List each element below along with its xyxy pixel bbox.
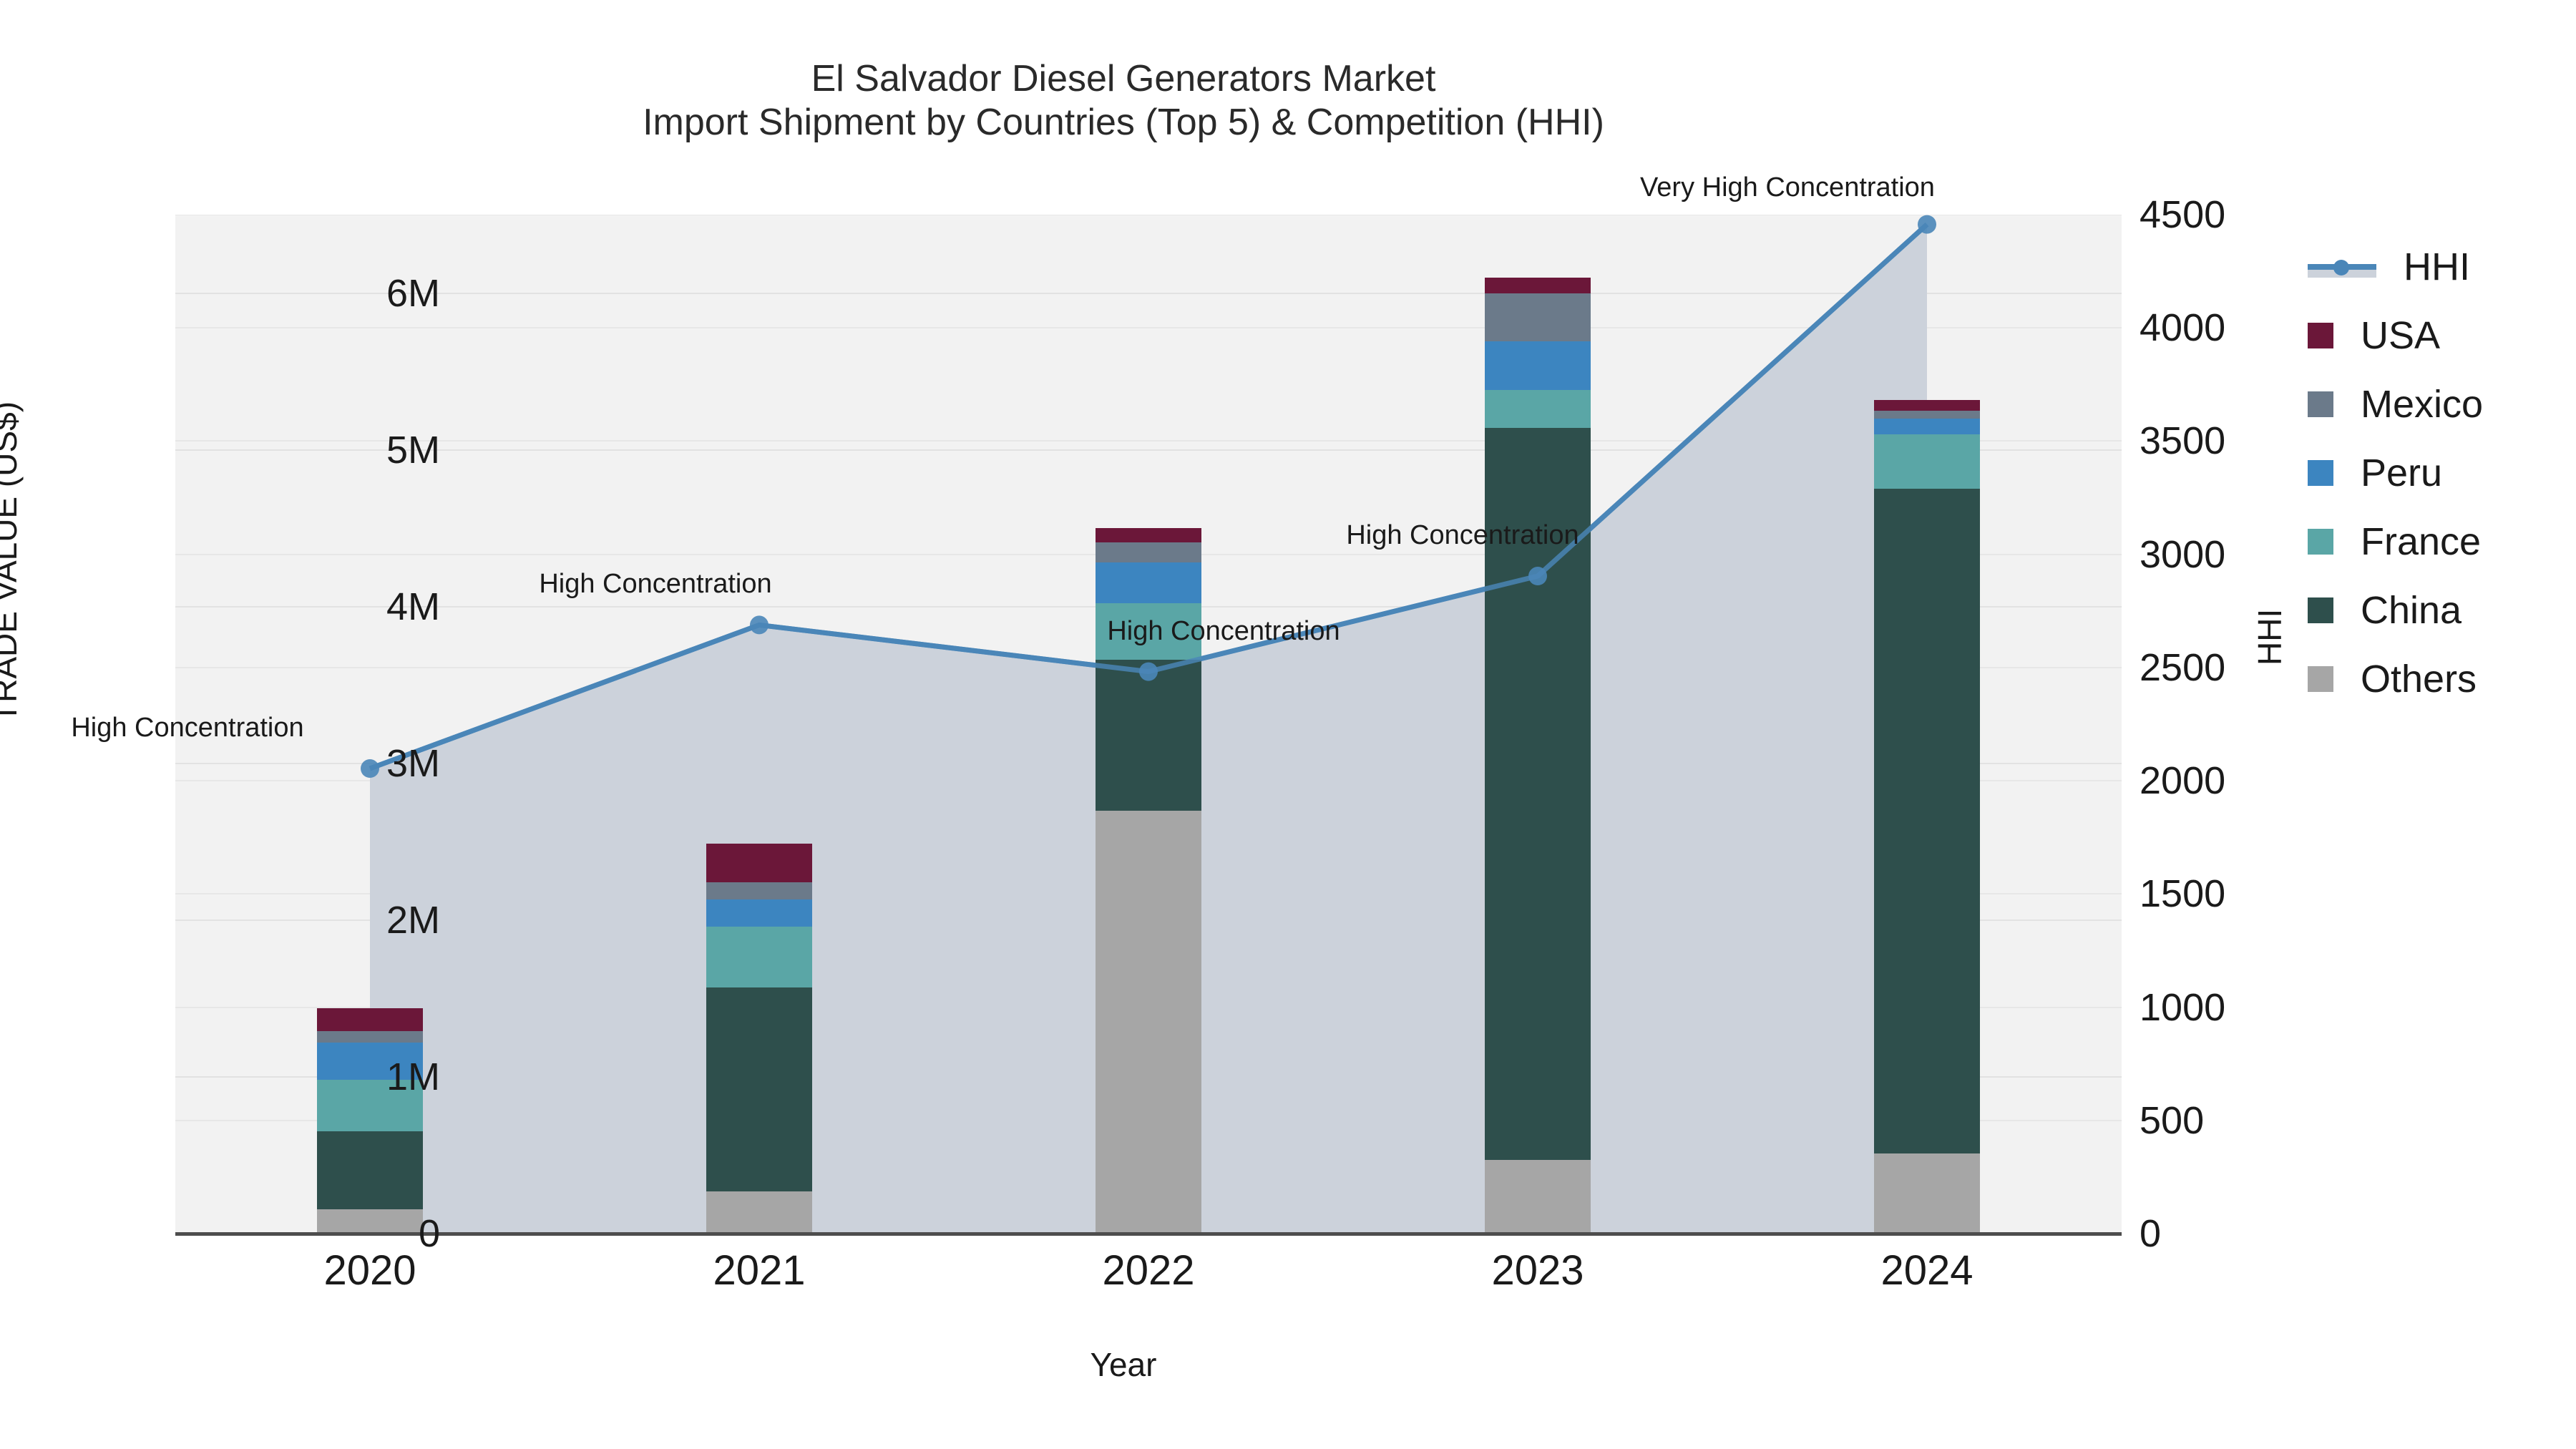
legend-item-others[interactable]: Others — [2308, 645, 2483, 713]
legend-swatch-usa-icon — [2308, 323, 2333, 348]
hhi-marker-2024[interactable] — [1918, 215, 1936, 234]
y-tick-left-3M: 3M — [225, 741, 440, 786]
legend-item-france[interactable]: France — [2308, 507, 2483, 576]
legend-label: Mexico — [2361, 382, 2483, 426]
y-tick-left-5M: 5M — [225, 428, 440, 472]
plot-inner — [175, 215, 2122, 1234]
chart-title: El Salvador Diesel Generators Market — [0, 57, 2247, 101]
y-tick-right-1000: 1000 — [2140, 985, 2354, 1030]
x-tick-2023: 2023 — [1416, 1246, 1659, 1294]
legend-item-hhi[interactable]: HHI — [2308, 233, 2483, 301]
legend-label: China — [2361, 588, 2462, 633]
x-tick-2020: 2020 — [248, 1246, 492, 1294]
chart-title-block: El Salvador Diesel Generators Market Imp… — [0, 57, 2247, 145]
legend-marker-icon — [2333, 260, 2349, 275]
legend-label: France — [2361, 519, 2481, 564]
y-tick-right-4500: 4500 — [2140, 192, 2354, 237]
hhi-markers-layer — [175, 215, 2122, 1234]
y-tick-left-1M: 1M — [225, 1055, 440, 1099]
y-axis-label-left: TRADE VALUE (US$) — [0, 401, 24, 723]
legend-label: Others — [2361, 657, 2477, 701]
y-tick-right-500: 500 — [2140, 1098, 2354, 1143]
hhi-annotation-2023: High Concentration — [1346, 520, 1579, 551]
x-axis-line — [175, 1232, 2122, 1236]
legend: HHIUSAMexicoPeruFranceChinaOthers — [2308, 233, 2483, 713]
hhi-line-overlay — [370, 225, 1927, 769]
legend-swatch-china-icon — [2308, 597, 2333, 623]
hhi-marker-2021[interactable] — [750, 615, 769, 634]
legend-item-mexico[interactable]: Mexico — [2308, 370, 2483, 439]
legend-label: USA — [2361, 313, 2440, 358]
chart-root: El Salvador Diesel Generators Market Imp… — [0, 0, 2576, 1449]
legend-line-icon — [2308, 254, 2376, 280]
x-tick-2022: 2022 — [1027, 1246, 1270, 1294]
plot-area — [175, 215, 2122, 1234]
y-tick-right-0: 0 — [2140, 1211, 2354, 1256]
hhi-annotation-2024: Very High Concentration — [1640, 172, 1935, 203]
y-tick-left-4M: 4M — [225, 585, 440, 629]
legend-label: Peru — [2361, 451, 2442, 495]
x-tick-2024: 2024 — [1805, 1246, 2049, 1294]
chart-subtitle: Import Shipment by Countries (Top 5) & C… — [0, 101, 2247, 145]
y-tick-left-2M: 2M — [225, 898, 440, 942]
hhi-marker-2023[interactable] — [1528, 567, 1547, 585]
hhi-annotation-2022: High Concentration — [1107, 616, 1340, 647]
y-tick-right-1500: 1500 — [2140, 872, 2354, 916]
legend-label: HHI — [2404, 245, 2470, 289]
legend-item-china[interactable]: China — [2308, 576, 2483, 645]
legend-item-usa[interactable]: USA — [2308, 301, 2483, 370]
legend-swatch-peru-icon — [2308, 460, 2333, 486]
hhi-annotation-2020: High Concentration — [71, 713, 303, 743]
hhi-annotation-2021: High Concentration — [539, 569, 771, 600]
x-tick-2021: 2021 — [638, 1246, 881, 1294]
legend-swatch-mexico-icon — [2308, 391, 2333, 417]
x-axis-label: Year — [0, 1345, 2247, 1384]
legend-item-peru[interactable]: Peru — [2308, 439, 2483, 507]
y-tick-right-2000: 2000 — [2140, 758, 2354, 803]
y-tick-left-6M: 6M — [225, 271, 440, 316]
legend-swatch-others-icon — [2308, 666, 2333, 692]
hhi-marker-2022[interactable] — [1139, 663, 1158, 681]
legend-swatch-france-icon — [2308, 529, 2333, 555]
